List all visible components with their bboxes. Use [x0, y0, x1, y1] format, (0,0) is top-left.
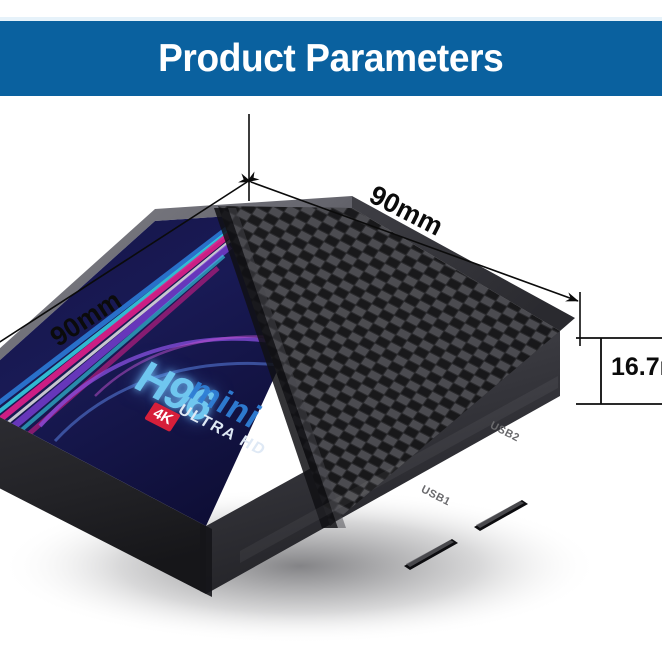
- product-render: [0, 96, 662, 662]
- header-banner-area: Product Parameters: [0, 0, 662, 100]
- box-front-corner: [200, 523, 212, 597]
- page-title: Product Parameters: [158, 37, 503, 81]
- header-banner: Product Parameters: [0, 21, 662, 96]
- dimension-label-height: 16.7mm: [611, 353, 662, 382]
- product-illustration: H96 mini 4K ULTRA HD USB1 USB2 90mm 90mm…: [0, 96, 662, 662]
